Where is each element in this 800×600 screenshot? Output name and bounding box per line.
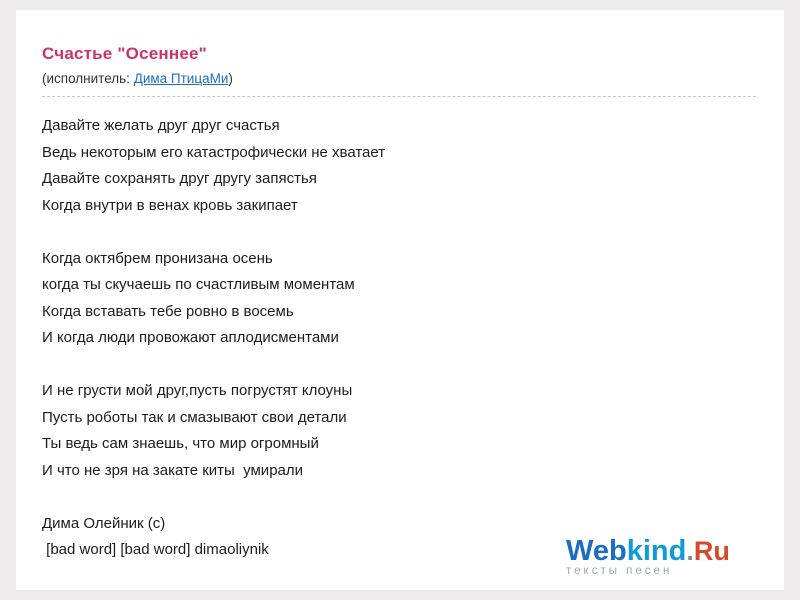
divider <box>42 96 756 97</box>
logo-subtitle: тексты песен <box>566 565 766 577</box>
logo-part-kind: kind <box>627 535 687 567</box>
logo-part-web: Web <box>566 535 627 567</box>
content-card: Счастье "Осеннее" (исполнитель: Дима Пти… <box>16 10 784 590</box>
performer-prefix-label: (исполнитель: <box>42 71 134 86</box>
page-title: Счастье "Осеннее" <box>42 44 764 64</box>
performer-suffix-label: ) <box>228 71 233 86</box>
performer-line: (исполнитель: Дима ПтицаМи) <box>42 70 764 87</box>
logo-tld: Ru <box>694 536 730 566</box>
site-logo[interactable]: Webkind.Ru тексты песен <box>566 536 766 584</box>
page-root: Счастье "Осеннее" (исполнитель: Дима Пти… <box>0 0 800 600</box>
logo-dot: . <box>686 536 694 566</box>
lyrics-text: Давайте желать друг друг счастья Ведь не… <box>42 113 764 564</box>
logo-wordmark: Webkind.Ru <box>566 536 766 566</box>
performer-link[interactable]: Дима ПтицаМи <box>134 71 229 86</box>
song-block: Счастье "Осеннее" (исполнитель: Дима Пти… <box>42 44 764 564</box>
